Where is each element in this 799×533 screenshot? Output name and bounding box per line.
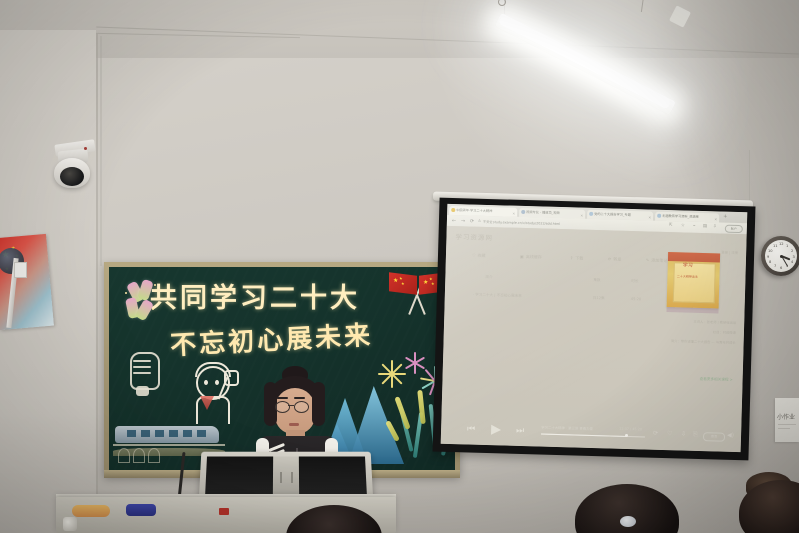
screen-wire: [749, 150, 750, 206]
forward-icon[interactable]: →: [461, 218, 465, 224]
page-row-label: 时长: [631, 279, 638, 284]
extension-icon[interactable]: ⌁: [693, 224, 696, 229]
page-row-value[interactable]: · 学习二十大 | 不忘初心展未来: [473, 293, 522, 299]
cast-icon[interactable]: ▤: [703, 224, 707, 229]
lamp-tube: [498, 15, 671, 109]
new-tab-button[interactable]: +: [723, 214, 727, 220]
projector-screen[interactable]: 中国青年·学习二十大精神 × 视频专区 - 播放页_视频 × 党的二十大报告学习…: [441, 204, 748, 452]
wall-seam-vertical: [100, 36, 102, 266]
download-icon[interactable]: ⇩: [681, 430, 686, 437]
loop-icon[interactable]: ⟳: [653, 430, 658, 437]
page-action-collect[interactable]: ♡收藏: [472, 253, 486, 259]
clock-center-pin: [780, 255, 783, 258]
wall-switch[interactable]: [14, 262, 27, 278]
firecracker-chalk-icon: [124, 280, 162, 322]
camera-indicator-icon: [84, 147, 87, 150]
wall-note-text: 小作业: [777, 412, 795, 421]
lamp-wire: [641, 0, 644, 12]
podium-monitor-hinge: [273, 457, 299, 498]
hair-side: [312, 382, 325, 426]
eyebrow: [294, 397, 305, 399]
glasses-bridge: [288, 405, 294, 406]
cache-icon: ▣: [520, 254, 524, 259]
now-playing-title: 学习二十大精神 · 第三讲 青春力量: [541, 425, 593, 431]
mouth: [289, 423, 299, 426]
page-action-label: 转发: [613, 257, 621, 262]
browser-tab-label: 主题教育学习资料_资源库: [662, 213, 699, 218]
star-icon[interactable]: ☆: [681, 223, 685, 228]
blue-object-on-podium: [126, 504, 156, 516]
page-action-share[interactable]: ⟳转发: [608, 256, 622, 262]
monitor-vent: [291, 472, 293, 483]
login-register-link[interactable]: 登录 | 注册: [721, 250, 738, 255]
favicon-icon: [521, 210, 525, 214]
page-action-label: 添加笔记: [651, 258, 667, 263]
not-secure-icon: ⚠: [478, 218, 481, 222]
close-icon[interactable]: ×: [648, 213, 651, 220]
chalk-arch: [148, 448, 160, 463]
close-icon[interactable]: ×: [580, 211, 583, 218]
glasses-icon: [294, 401, 309, 413]
note-icon: ✎: [646, 257, 649, 262]
podium-lock[interactable]: [63, 517, 77, 531]
page-row-value: 45:20: [631, 297, 641, 301]
favicon-icon: [589, 212, 593, 216]
page-action-label: 下载: [575, 255, 583, 260]
back-icon[interactable]: ←: [452, 217, 456, 223]
train-chalk-icon: [113, 418, 225, 456]
page-row-label: 简介: [485, 275, 492, 280]
lamp-end-cap: [669, 5, 691, 27]
download-icon: ⇪: [570, 255, 573, 260]
download-icon[interactable]: ⇩: [713, 224, 717, 229]
page-action-download[interactable]: ⇪下载: [570, 255, 584, 261]
fruit-on-podium: [72, 505, 110, 517]
next-track-button[interactable]: ⏭: [516, 426, 524, 436]
share-icon: ⟳: [608, 256, 611, 261]
podium-sticker: [219, 508, 229, 515]
favicon-icon: [451, 208, 455, 212]
close-icon[interactable]: ×: [714, 215, 717, 222]
play-button[interactable]: ▶: [491, 422, 501, 437]
chalk-arch: [133, 448, 145, 463]
reload-icon[interactable]: ⟳: [470, 218, 474, 224]
page-action-label: 离线缓存: [526, 254, 542, 259]
browser-tab-label: 视频专区 - 播放页_视频: [526, 210, 560, 215]
close-icon[interactable]: ×: [512, 209, 515, 216]
heart-icon: ♡: [472, 253, 476, 258]
cover-title: 学习: [668, 261, 708, 269]
favicon-icon: [657, 214, 661, 218]
camera-lens-icon: [60, 167, 84, 186]
playback-time: 12:37 / 45:20: [619, 427, 642, 432]
web-page-content: 学习资源网 登录 | 注册 ♡收藏 ▣离线缓存 ⇪下载 ⟳转发 ✎添加笔记 简介…: [441, 226, 747, 452]
page-action-label: 收藏: [478, 253, 486, 258]
hair-tie: [620, 516, 636, 527]
eyebrow: [277, 397, 288, 399]
classroom-scene: ★ ★ ★ ★ ★ 共同学习二十大 不忘初心展未来: [0, 0, 799, 533]
browser-tab-label: 中国青年·学习二十大精神: [456, 208, 492, 213]
security-status-text: 不安全: [483, 219, 493, 224]
raised-fist-chalk-icon: [130, 352, 160, 390]
quality-selector[interactable]: 高清: [703, 432, 725, 442]
course-cover-image[interactable]: 学习 二十大精神读本: [667, 252, 721, 308]
browser-tab-label: 党的二十大报告学习_专题: [594, 211, 631, 216]
volume-icon[interactable]: ◀): [727, 432, 734, 439]
cover-shadow: [666, 307, 718, 313]
course-meta-line: 简介：带你读懂二十大报告 — 与青年共成长: [671, 338, 736, 345]
glasses-icon: [275, 401, 290, 413]
profile-button[interactable]: 账户: [725, 225, 743, 233]
page-row-value: 共12集: [593, 296, 605, 301]
progress-fill: [541, 434, 627, 438]
page-row-label: 集数: [593, 278, 600, 283]
share-icon[interactable]: ⇱: [669, 223, 673, 228]
favorite-icon[interactable]: ♡: [667, 430, 673, 437]
more-courses-link[interactable]: 查看更多相关课程 >: [700, 377, 733, 383]
blackboard-headline-line1: 共同学习二十大: [150, 276, 360, 315]
page-action-note[interactable]: ✎添加笔记: [646, 257, 668, 264]
monitor-vent: [280, 472, 282, 483]
fluorescent-tube-light: [492, 0, 692, 118]
cartoon-boy-chalk-icon: [186, 358, 238, 424]
previous-track-button[interactable]: ⏮: [467, 424, 475, 434]
firework-chalk-icon: [378, 360, 406, 388]
course-meta-line: 主讲人：张老师 | 教研组出品: [693, 319, 736, 325]
share-icon[interactable]: ⎘: [693, 431, 698, 439]
course-meta-line: 栏目：时政微课: [713, 329, 736, 335]
page-action-cache[interactable]: ▣离线缓存: [520, 254, 542, 261]
chalk-arch: [118, 448, 130, 463]
site-logo[interactable]: 学习资源网: [455, 231, 493, 242]
